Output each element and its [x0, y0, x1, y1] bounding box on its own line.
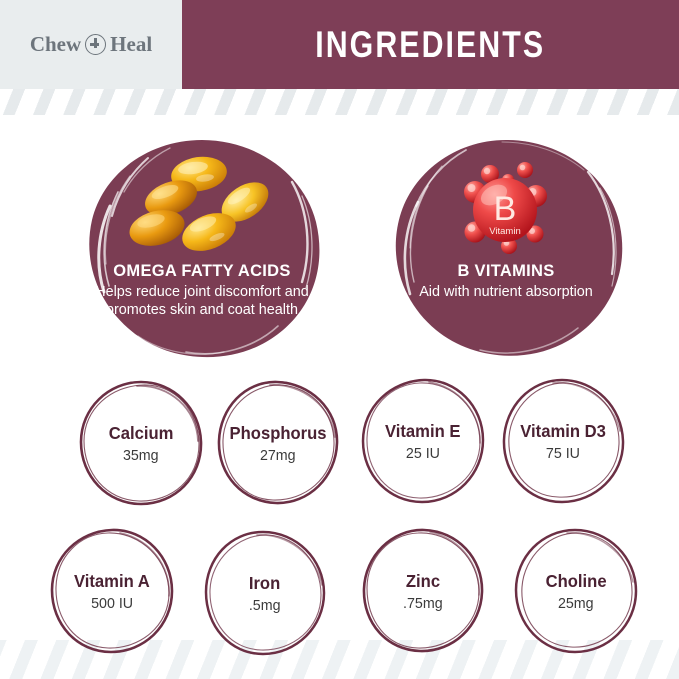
plus-circle-icon	[85, 34, 106, 55]
feature-description: Helps reduce joint discomfort and promot…	[95, 284, 310, 319]
brand-logo: Chew Heal	[30, 32, 152, 57]
nutrient-amount: 27mg	[260, 447, 296, 464]
nutrient-name: Vitamin E	[385, 421, 460, 442]
header-banner: INGREDIENTS	[182, 0, 679, 89]
nutrient-circle-iron: Iron .5mg	[197, 525, 333, 661]
svg-text:B: B	[494, 190, 517, 228]
b-vitamin-molecule-sphere-icon: B Vitamin	[431, 152, 581, 260]
nutrient-circle-vitamin-d3: Vitamin D3 75 IU	[495, 373, 631, 509]
nutrient-amount: 500 IU	[91, 595, 133, 612]
nutrient-label-group: Vitamin E 25 IU	[355, 373, 491, 509]
nutrient-amount: .5mg	[249, 597, 281, 614]
nutrient-name: Vitamin D3	[520, 421, 606, 442]
nutrient-label-group: Phosphorus 27mg	[210, 375, 346, 511]
feature-title: OMEGA FATTY ACIDS	[113, 262, 290, 281]
feature-content: OMEGA FATTY ACIDS Helps reduce joint dis…	[78, 136, 326, 360]
feature-card-b-vitamins: B Vitamin B VITAMINS Aid with nutrient a…	[382, 136, 630, 360]
nutrient-label-group: Calcium 35mg	[73, 375, 209, 511]
nutrient-name: Phosphorus	[230, 423, 327, 444]
nutrient-circle-vitamin-e: Vitamin E 25 IU	[355, 373, 491, 509]
feature-content: B Vitamin B VITAMINS Aid with nutrient a…	[382, 136, 630, 360]
nutrient-amount: 25 IU	[406, 445, 440, 462]
nutrient-amount: .75mg	[403, 595, 443, 612]
nutrient-name: Calcium	[109, 423, 174, 444]
nutrient-amount: 25mg	[558, 595, 594, 612]
feature-title: B VITAMINS	[457, 262, 554, 281]
fish-oil-softgel-capsules-icon	[127, 152, 277, 260]
nutrient-label-group: Choline 25mg	[508, 523, 644, 659]
nutrient-label-group: Iron .5mg	[197, 525, 333, 661]
brand-panel: Chew Heal	[0, 0, 182, 89]
brand-word-heal: Heal	[110, 32, 152, 57]
page-title: INGREDIENTS	[316, 24, 546, 66]
page-header: Chew Heal INGREDIENTS	[0, 0, 679, 89]
nutrient-name: Zinc	[406, 571, 440, 592]
nutrient-name: Choline	[546, 571, 607, 592]
feature-card-omega-fatty-acids: OMEGA FATTY ACIDS Helps reduce joint dis…	[78, 136, 326, 360]
nutrient-circle-calcium: Calcium 35mg	[73, 375, 209, 511]
nutrient-name: Vitamin A	[74, 571, 150, 592]
brand-word-chew: Chew	[30, 32, 81, 57]
nutrient-label-group: Vitamin A 500 IU	[44, 523, 180, 659]
ingredients-infographic: Chew Heal INGREDIENTS	[0, 0, 679, 679]
nutrient-amount: 35mg	[123, 447, 159, 464]
svg-text:Vitamin: Vitamin	[489, 226, 521, 237]
nutrient-name: Iron	[249, 573, 280, 594]
nutrient-label-group: Zinc .75mg	[355, 523, 491, 659]
nutrient-amount: 75 IU	[546, 445, 580, 462]
feature-description: Aid with nutrient absorption	[399, 284, 614, 302]
nutrient-circle-zinc: Zinc .75mg	[355, 523, 491, 659]
nutrient-label-group: Vitamin D3 75 IU	[495, 373, 631, 509]
nutrient-circle-phosphorus: Phosphorus 27mg	[210, 375, 346, 511]
diagonal-stripes-top	[0, 89, 679, 115]
nutrient-circle-vitamin-a: Vitamin A 500 IU	[44, 523, 180, 659]
nutrient-circle-choline: Choline 25mg	[508, 523, 644, 659]
